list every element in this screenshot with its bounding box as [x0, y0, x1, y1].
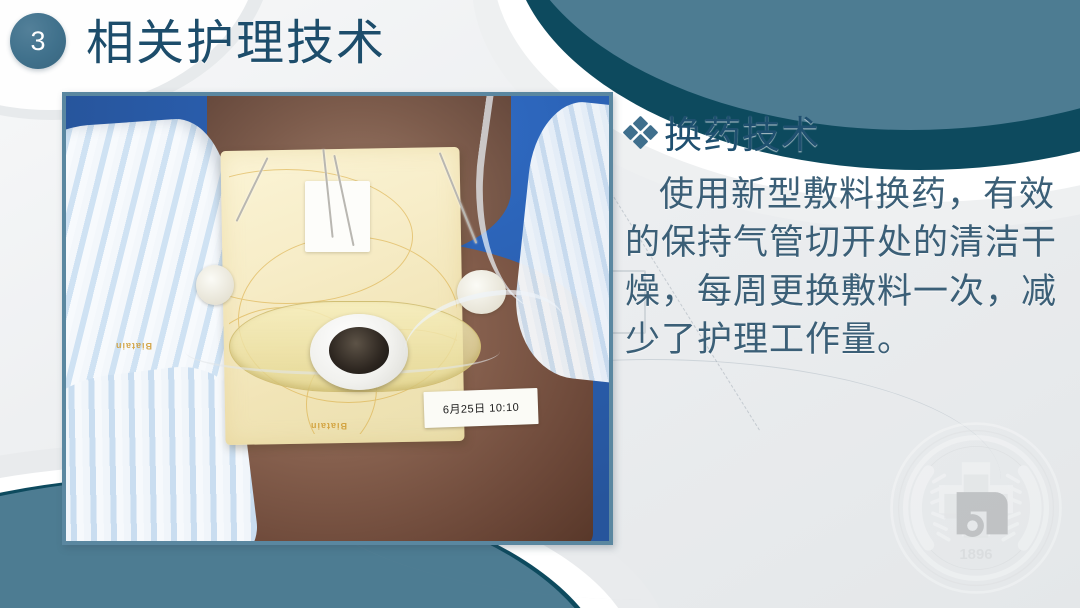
photo-white-tab	[305, 181, 370, 252]
text-column: 换药技术 使用新型敷料换药，有效的保持气管切开处的清洁干燥，每周更换敷料一次，减…	[625, 104, 1065, 364]
slide-canvas: 3 相关护理技术 Biatain Biatain	[0, 0, 1080, 608]
photo-dressing-brand-lower: Biatain	[310, 421, 347, 431]
body-paragraph: 使用新型敷料换药，有效的保持气管切开处的清洁干燥，每周更换敷料一次，减少了护理工…	[625, 171, 1065, 364]
hospital-emblem-watermark-icon: 1896	[888, 420, 1064, 596]
photo-tube-lumen	[329, 327, 389, 374]
emblem-year: 1896	[959, 546, 992, 563]
slide-number-text: 3	[30, 28, 45, 55]
section-heading: 换药技术	[625, 104, 1065, 159]
photo-date-label-text: 6月25日 10:10	[443, 398, 520, 417]
clinical-photo: Biatain Biatain 6月25日 10:10	[62, 92, 613, 545]
photo-date-label: 6月25日 10:10	[424, 388, 539, 428]
section-heading-text: 换药技术	[664, 104, 820, 159]
diamond-bullet-icon	[625, 117, 655, 147]
page-title: 相关护理技术	[86, 3, 386, 73]
photo-dressing-brand-left: Biatain	[115, 341, 152, 351]
slide-number-badge: 3	[10, 13, 66, 69]
